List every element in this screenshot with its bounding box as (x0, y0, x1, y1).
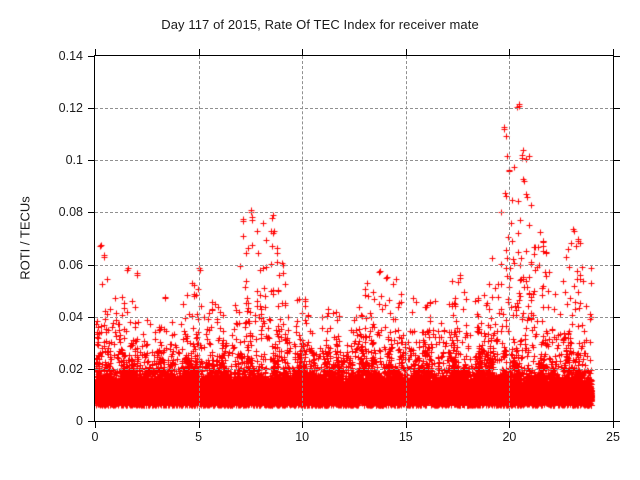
y-axis-tick (88, 421, 95, 422)
chart-title: Day 117 of 2015, Rate Of TEC Index for r… (0, 17, 640, 32)
y-axis-tick-label: 0.08 (3, 205, 83, 219)
scatter-plot-canvas (95, 56, 613, 421)
x-axis-tick (95, 421, 96, 428)
gridline-horizontal (95, 212, 613, 213)
x-axis-tick (199, 421, 200, 428)
x-axis-tick-label: 5 (169, 430, 229, 444)
y-axis-tick (88, 108, 95, 109)
gridline-vertical (199, 56, 200, 421)
gridline-horizontal (95, 160, 613, 161)
y-axis-tick (613, 317, 620, 318)
y-axis-title: ROTI / TECUs (18, 158, 33, 318)
y-axis-tick-label: 0.12 (3, 101, 83, 115)
x-axis-tick-label: 20 (479, 430, 539, 444)
x-axis-tick (613, 421, 614, 428)
x-axis-tick-label: 10 (272, 430, 332, 444)
gridline-horizontal (95, 108, 613, 109)
y-axis-tick (613, 265, 620, 266)
y-axis-tick-label: 0 (3, 414, 83, 428)
chart-figure: Day 117 of 2015, Rate Of TEC Index for r… (0, 0, 640, 480)
gridline-horizontal (95, 317, 613, 318)
y-axis-tick (88, 212, 95, 213)
y-axis-tick-label: 0.04 (3, 310, 83, 324)
x-axis-tick (95, 49, 96, 56)
gridline-vertical (509, 56, 510, 421)
x-axis-tick (509, 421, 510, 428)
y-axis-tick-label: 0.14 (3, 49, 83, 63)
x-axis-tick (509, 49, 510, 56)
x-axis-tick (302, 49, 303, 56)
y-axis-tick (613, 56, 620, 57)
y-axis-tick (88, 369, 95, 370)
y-axis-tick (613, 212, 620, 213)
gridline-horizontal (95, 369, 613, 370)
y-axis-tick-label: 0.06 (3, 258, 83, 272)
gridline-vertical (406, 56, 407, 421)
x-axis-tick-label: 25 (583, 430, 640, 444)
x-axis-tick (302, 421, 303, 428)
x-axis-tick (406, 49, 407, 56)
x-axis-tick (613, 49, 614, 56)
y-axis-tick (88, 56, 95, 57)
x-axis-tick (199, 49, 200, 56)
y-axis-tick (613, 369, 620, 370)
y-axis-tick-label: 0.02 (3, 362, 83, 376)
y-axis-tick (613, 108, 620, 109)
x-axis-tick-label: 0 (65, 430, 125, 444)
y-axis-tick (88, 265, 95, 266)
y-axis-tick (613, 160, 620, 161)
x-axis-tick (406, 421, 407, 428)
y-axis-tick-label: 0.1 (3, 153, 83, 167)
x-axis-tick-label: 15 (376, 430, 436, 444)
gridline-vertical (302, 56, 303, 421)
gridline-horizontal (95, 265, 613, 266)
plot-area: 00.020.040.060.080.10.120.14 0510152025 … (94, 55, 614, 422)
y-axis-tick (88, 160, 95, 161)
y-axis-tick (88, 317, 95, 318)
y-axis-tick (613, 421, 620, 422)
